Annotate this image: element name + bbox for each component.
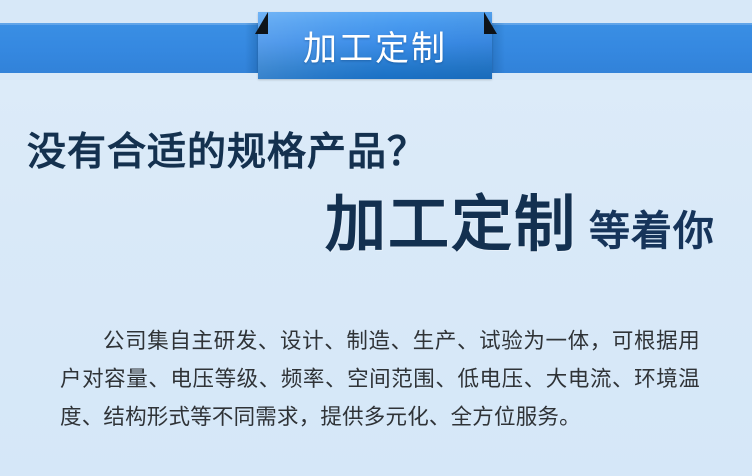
- description-paragraph: 公司集自主研发、设计、制造、生产、试验为一体，可根据用户对容量、电压等级、频率、…: [60, 322, 700, 436]
- sub-heading: 没有合适的规格产品？: [27, 121, 427, 177]
- page-title: 加工定制 等着你: [325, 195, 715, 256]
- page-title-tail: 等着你: [589, 211, 715, 252]
- ribbon-title: 加工定制: [258, 12, 492, 79]
- page-title-main: 加工定制: [325, 195, 577, 256]
- ribbon-header: 加工定制: [0, 0, 752, 92]
- promo-banner-page: 加工定制 没有合适的规格产品？ 加工定制 等着你 公司集自主研发、设计、制造、生…: [0, 0, 752, 476]
